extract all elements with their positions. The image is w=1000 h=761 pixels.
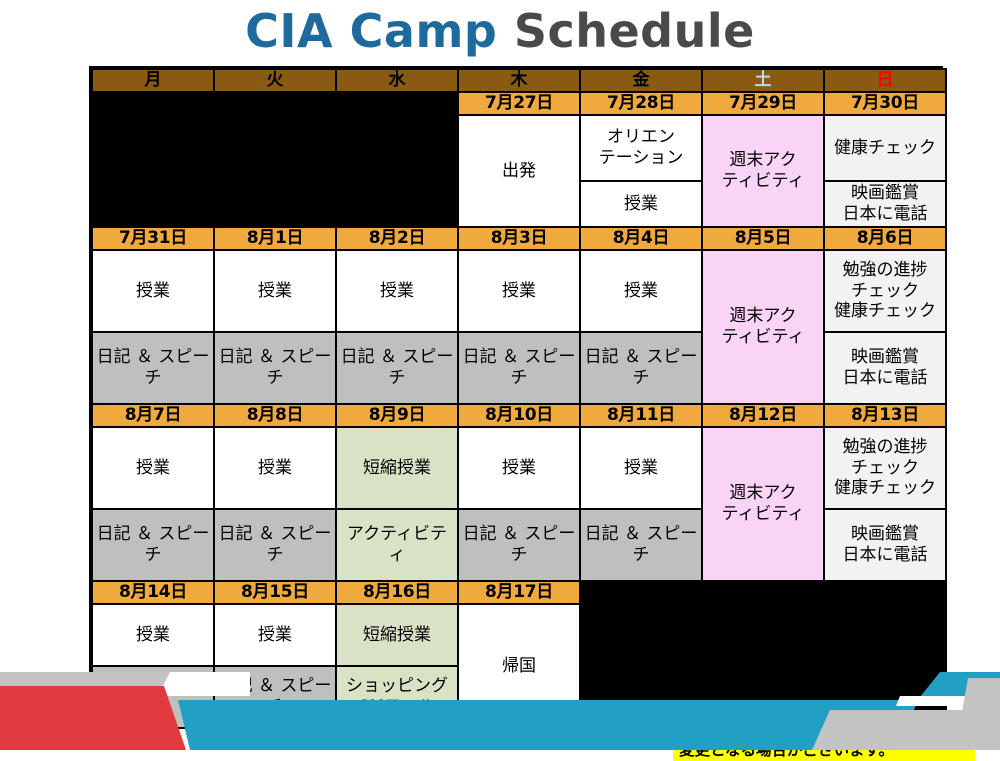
event-0812-weekend-activity: 週末アク ティビティ (702, 427, 824, 581)
date-cell-0805: 8月5日 (702, 227, 824, 250)
event-0815-class: 授業 (214, 604, 336, 666)
event-0814-class: 授業 (92, 604, 214, 666)
event-0813-movie-call: 映画鑑賞 日本に電話 (824, 509, 946, 581)
event-0803-diary-speech: 日記 ＆ スピー チ (458, 332, 580, 404)
date-cell-0817: 8月17日 (458, 581, 580, 604)
weekday-header-fri: 金 (580, 69, 702, 92)
event-0806-movie-call: 映画鑑賞 日本に電話 (824, 332, 946, 404)
date-cell-0727: 7月27日 (458, 92, 580, 115)
date-cell-0813: 8月13日 (824, 404, 946, 427)
event-0801-class: 授業 (214, 250, 336, 332)
event-0809-short-class: 短縮授業 (336, 427, 458, 509)
event-0810-class: 授業 (458, 427, 580, 509)
event-0804-class: 授業 (580, 250, 702, 332)
event-0805-weekend-activity: 週末アク ティビティ (702, 250, 824, 404)
event-0807-class: 授業 (92, 427, 214, 509)
date-cell-0815: 8月15日 (214, 581, 336, 604)
event-0811-class: 授業 (580, 427, 702, 509)
event-0810-diary-speech: 日記 ＆ スピー チ (458, 509, 580, 581)
date-cell-0809: 8月9日 (336, 404, 458, 427)
event-0803-class: 授業 (458, 250, 580, 332)
event-0811-diary-speech: 日記 ＆ スピー チ (580, 509, 702, 581)
event-0808-class: 授業 (214, 427, 336, 509)
event-0808-diary-speech: 日記 ＆ スピー チ (214, 509, 336, 581)
schedule-table-frame: 月 火 水 木 金 土 日 7月27日 7月28日 7月29日 7月30日 出発 (89, 66, 943, 709)
date-cell-0731: 7月31日 (92, 227, 214, 250)
deco-white-wedge-left (158, 672, 250, 696)
date-cell-0814: 8月14日 (92, 581, 214, 604)
week-3-daytime-row: 授業 授業 短縮授業 授業 授業 週末アク ティビティ 勉強の進捗 チェック 健… (92, 427, 946, 509)
event-0728-class: 授業 (580, 181, 702, 227)
week-2-date-row: 7月31日 8月1日 8月2日 8月3日 8月4日 8月5日 8月6日 (92, 227, 946, 250)
date-cell-0730: 7月30日 (824, 92, 946, 115)
event-0728-orientation: オリエン テーション (580, 115, 702, 181)
date-cell-0806: 8月6日 (824, 227, 946, 250)
weekday-header-wed: 水 (336, 69, 458, 92)
date-cell-0807: 8月7日 (92, 404, 214, 427)
week-1-empty-block (92, 92, 458, 227)
date-cell-0811: 8月11日 (580, 404, 702, 427)
date-cell-0728: 7月28日 (580, 92, 702, 115)
event-0807-diary-speech: 日記 ＆ スピー チ (92, 509, 214, 581)
week-3-date-row: 8月7日 8月8日 8月9日 8月10日 8月11日 8月12日 8月13日 (92, 404, 946, 427)
event-0801-diary-speech: 日記 ＆ スピー チ (214, 332, 336, 404)
event-0729-weekend-activity: 週末アク ティビティ (702, 115, 824, 227)
event-0802-class: 授業 (336, 250, 458, 332)
date-cell-0803: 8月3日 (458, 227, 580, 250)
event-0730-health-check: 健康チェック (824, 115, 946, 181)
page-title: CIA Camp Schedule (0, 4, 1000, 58)
event-0813-progress-health-check: 勉強の進捗 チェック 健康チェック (824, 427, 946, 509)
event-0809-activity: アクティビティ (336, 509, 458, 581)
weekday-header-sat: 土 (702, 69, 824, 92)
footer-decoration (0, 672, 1000, 750)
date-cell-0729: 7月29日 (702, 92, 824, 115)
event-0730-movie-call: 映画鑑賞 日本に電話 (824, 181, 946, 227)
event-0731-class: 授業 (92, 250, 214, 332)
week-4-date-row: 8月14日 8月15日 8月16日 8月17日 (92, 581, 946, 604)
date-cell-0808: 8月8日 (214, 404, 336, 427)
deco-red-shape (0, 686, 186, 750)
date-cell-0812: 8月12日 (702, 404, 824, 427)
date-cell-0801: 8月1日 (214, 227, 336, 250)
date-cell-0804: 8月4日 (580, 227, 702, 250)
event-0804-diary-speech: 日記 ＆ スピー チ (580, 332, 702, 404)
event-0802-diary-speech: 日記 ＆ スピー チ (336, 332, 458, 404)
date-cell-0810: 8月10日 (458, 404, 580, 427)
title-part-schedule: Schedule (514, 4, 755, 58)
date-cell-0816: 8月16日 (336, 581, 458, 604)
event-0806-progress-health-check: 勉強の進捗 チェック 健康チェック (824, 250, 946, 332)
date-cell-0802: 8月2日 (336, 227, 458, 250)
schedule-table: 月 火 水 木 金 土 日 7月27日 7月28日 7月29日 7月30日 出発 (91, 68, 947, 729)
event-0727-departure: 出発 (458, 115, 580, 227)
deco-cyan-band (178, 700, 918, 750)
weekday-header-sun: 日 (824, 69, 946, 92)
weekday-header-row: 月 火 水 木 金 土 日 (92, 69, 946, 92)
title-part-cia-camp: CIA Camp (245, 4, 514, 58)
week-1-date-row: 7月27日 7月28日 7月29日 7月30日 (92, 92, 946, 115)
weekday-header-tue: 火 (214, 69, 336, 92)
weekday-header-mon: 月 (92, 69, 214, 92)
event-0731-diary-speech: 日記 ＆ スピー チ (92, 332, 214, 404)
event-0816-short-class: 短縮授業 (336, 604, 458, 666)
weekday-header-thu: 木 (458, 69, 580, 92)
week-2-daytime-row: 授業 授業 授業 授業 授業 週末アク ティビティ 勉強の進捗 チェック 健康チ… (92, 250, 946, 332)
